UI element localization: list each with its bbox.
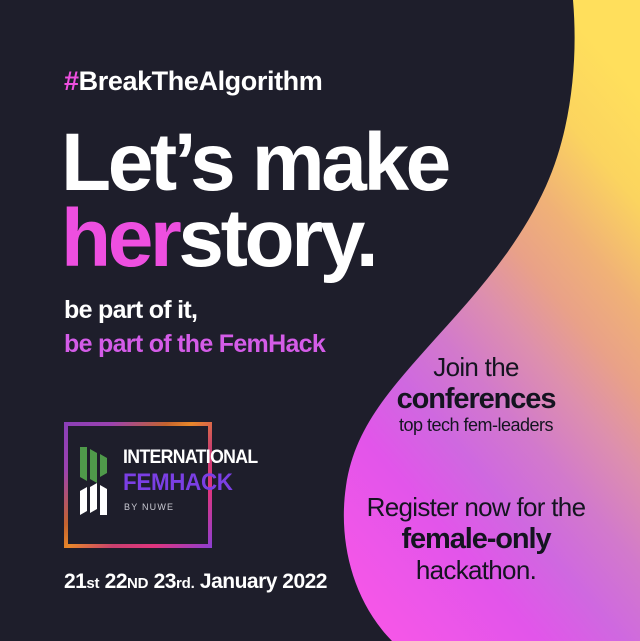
promo-hackathon: Register now for the female-only hackath… — [336, 492, 616, 586]
date-3-number: 23 — [154, 570, 176, 593]
hashtag-text: BreakTheAlgorithm — [79, 66, 323, 96]
headline-accent-her: her — [61, 193, 178, 284]
promo-conferences-emphasis: conferences — [336, 383, 616, 416]
date-1-ordinal: st — [86, 575, 99, 592]
subheadline: be part of it, be part of the FemHack — [64, 294, 325, 361]
promo-hackathon-intro: Register now for the — [336, 492, 616, 523]
date-month-year: January 2022 — [200, 570, 327, 593]
logo-text-femhack: FEMHACK — [123, 471, 258, 495]
subheadline-line-1: be part of it, — [64, 294, 325, 328]
date-2-ordinal: ND — [127, 575, 148, 592]
date-2-number: 22 — [105, 570, 127, 593]
campaign-hashtag: #BreakTheAlgorithm — [64, 66, 322, 97]
hash-symbol-icon: # — [64, 66, 79, 96]
date-3-ordinal: rd. — [176, 575, 195, 592]
promo-conferences-intro: Join the — [336, 352, 616, 383]
promo-conferences: Join the conferences top tech fem-leader… — [336, 352, 616, 437]
logo-text-by-nuwe: BY NUWE — [124, 502, 268, 512]
event-dates: 21st 22ND 23rd. January 2022 — [64, 570, 327, 594]
femhack-logo: INTERNATIONAL FEMHACK BY NUWE — [64, 422, 212, 548]
promo-conferences-detail: top tech fem-leaders — [336, 415, 616, 437]
promo-hackathon-emphasis: female-only — [336, 523, 616, 556]
nuwe-play-mark-icon — [77, 445, 121, 517]
date-1-number: 21 — [64, 570, 86, 593]
logo-text-international: INTERNATIONAL — [123, 448, 258, 467]
right-promo-column: Join the conferences top tech fem-leader… — [336, 0, 616, 641]
promo-hackathon-detail: hackathon. — [336, 555, 616, 586]
logo-wordmark: INTERNATIONAL FEMHACK BY NUWE — [123, 448, 268, 512]
logo-inner-panel: INTERNATIONAL FEMHACK BY NUWE — [68, 426, 208, 544]
subheadline-line-2: be part of the FemHack — [64, 328, 325, 362]
promo-poster: #BreakTheAlgorithm Let’s make herstory. … — [0, 0, 640, 641]
